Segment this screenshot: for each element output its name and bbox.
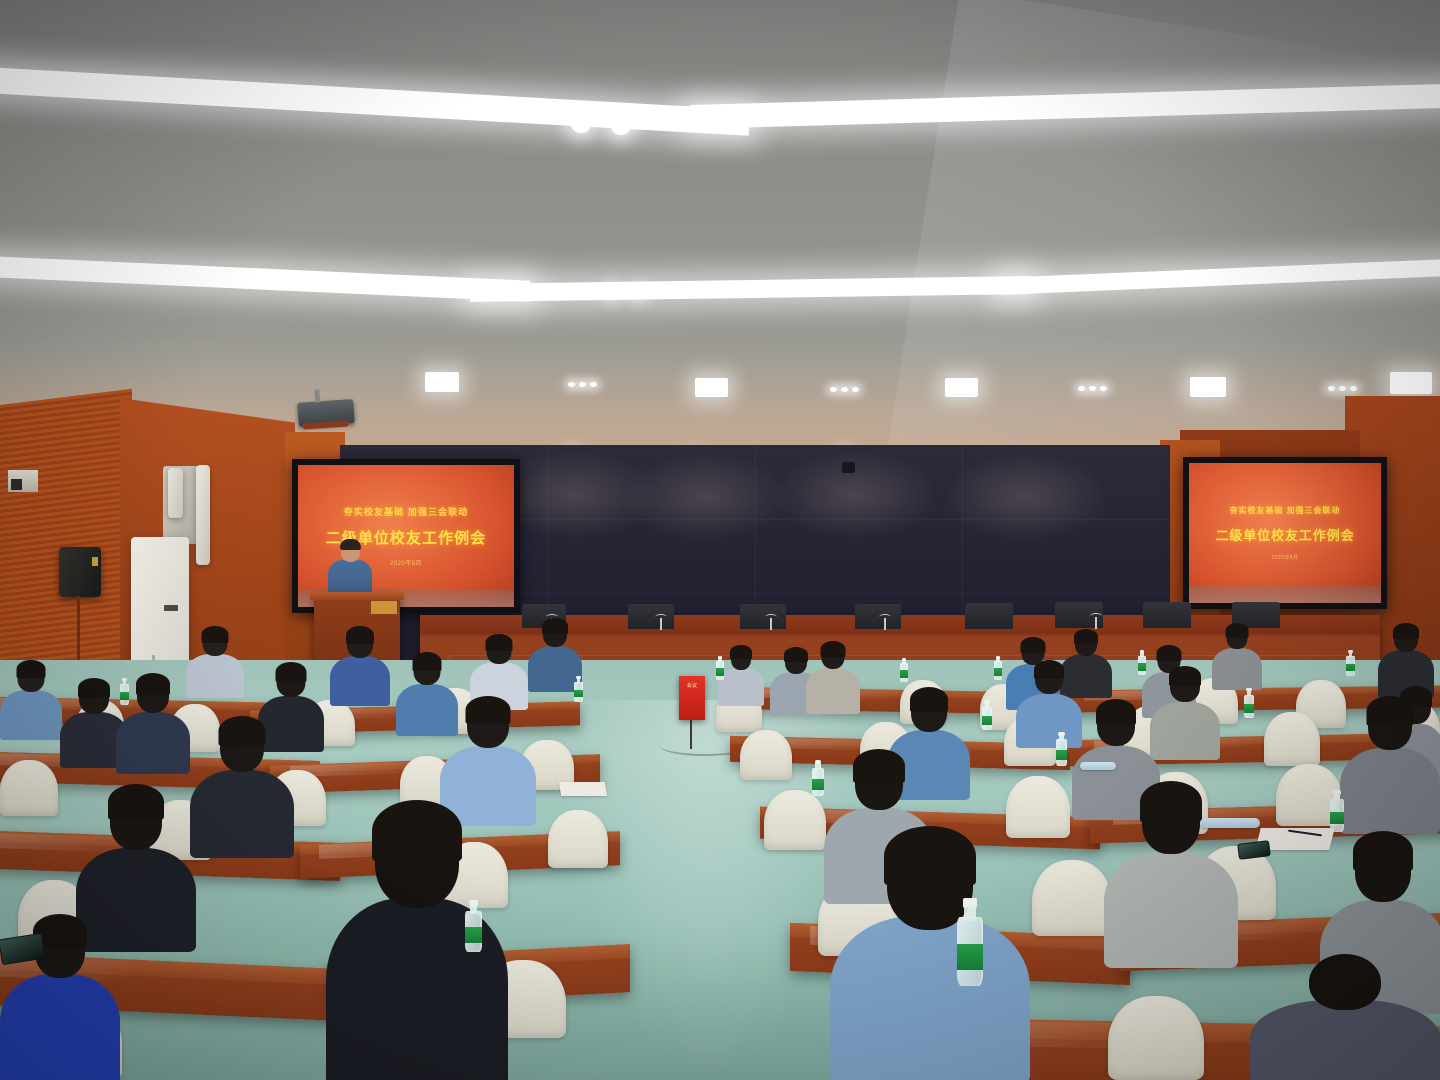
ceiling-panel-light — [695, 378, 728, 397]
water-bottle[interactable] — [812, 760, 824, 796]
audience-person — [1104, 786, 1238, 966]
water-bottle[interactable] — [465, 900, 482, 952]
screen-subtitle: 夯实校友基础 加强三会联动 — [1230, 505, 1341, 516]
audience-person — [718, 646, 764, 704]
wall-mounted-line-array-speaker — [168, 468, 183, 518]
ceiling-spot-glare — [605, 287, 618, 297]
water-bottle[interactable] — [1244, 688, 1254, 718]
table-microphone — [884, 618, 886, 630]
ceiling-spot-glare — [571, 116, 591, 133]
ceiling-panel-light — [425, 372, 459, 392]
ceiling-panel-light — [945, 378, 978, 397]
water-bottle[interactable] — [716, 656, 724, 680]
stage-monitor-speaker — [59, 547, 101, 597]
presenter-person — [328, 541, 372, 597]
ceiling-spotlight-cluster — [1078, 386, 1107, 391]
audience-chair — [1108, 996, 1204, 1080]
audience-chair — [1032, 860, 1112, 936]
wall-control-plate[interactable] — [8, 470, 38, 492]
face-mask[interactable] — [1080, 762, 1116, 770]
water-bottle[interactable] — [900, 658, 908, 682]
audience-chair — [0, 760, 58, 816]
water-bottle[interactable] — [1346, 650, 1355, 676]
screen-date: 2020年8月 — [1272, 554, 1299, 561]
audience-person — [1378, 624, 1434, 696]
presenter-hair — [340, 539, 361, 550]
table-microphone — [1095, 617, 1097, 629]
water-bottle[interactable] — [574, 676, 583, 702]
head-table-chair — [1143, 602, 1191, 628]
red-standing-banner: 会议 — [679, 676, 705, 720]
table-microphone — [770, 618, 772, 630]
head-table-chair — [965, 603, 1013, 629]
ceiling-spot-glare — [632, 288, 645, 298]
banner-stand-leg — [690, 719, 692, 749]
audience-chair — [764, 790, 826, 850]
ceiling-spotlight-cluster — [830, 387, 859, 392]
ceiling-panel-light — [1390, 372, 1432, 394]
conference-room-photo: 夯实校友基础 加强三会联动 二级单位校友工作例会 2020年8月 夯实校友基础 … — [0, 0, 1440, 1080]
water-bottle[interactable] — [994, 656, 1002, 680]
water-bottle[interactable] — [982, 700, 992, 730]
screen-title: 二级单位校友工作例会 — [1215, 525, 1354, 544]
wall-mounted-line-array-speaker — [196, 465, 210, 565]
audience-person — [186, 626, 244, 696]
right-projection-screen: 夯实校友基础 加强三会联动 二级单位校友工作例会 2020年8月 — [1183, 457, 1387, 609]
banner-text: 会议 — [679, 683, 705, 690]
head-table-chair — [740, 604, 786, 629]
notepad[interactable] — [559, 782, 607, 796]
face-mask[interactable] — [1200, 818, 1260, 828]
table-microphone — [660, 618, 662, 630]
water-bottle[interactable] — [1056, 732, 1067, 766]
podium-nameplate — [371, 601, 397, 614]
screen-subtitle: 夯实校友基础 加强三会联动 — [344, 505, 469, 518]
ceiling-spot-glare — [611, 118, 631, 135]
water-bottle[interactable] — [1138, 650, 1146, 675]
audience-person — [1150, 668, 1220, 758]
audience-chair — [548, 810, 608, 868]
audience-person — [830, 832, 1030, 1080]
right-screen-surface: 夯实校友基础 加强三会联动 二级单位校友工作例会 2020年8月 — [1189, 463, 1381, 603]
backdrop-light-wash — [940, 452, 1110, 542]
audience-chair — [1006, 776, 1070, 838]
audience-person — [1250, 954, 1440, 1080]
head-table-chair — [855, 604, 901, 629]
audience-person — [1340, 700, 1440, 832]
audience-person — [190, 720, 294, 856]
audience-chair — [740, 730, 792, 780]
water-bottle[interactable] — [957, 898, 983, 986]
backdrop-light-wash — [620, 452, 790, 542]
audience-person — [806, 642, 860, 712]
ceiling-projector — [297, 399, 355, 427]
audience-chair — [1264, 712, 1320, 766]
audience-person — [330, 628, 390, 704]
water-bottle[interactable] — [120, 678, 129, 705]
ceiling-spotlight-cluster — [1328, 386, 1357, 391]
left-projection-screen: 夯实校友基础 加强三会联动 二级单位校友工作例会 2020年8月 — [292, 459, 520, 613]
ceiling-panel-light — [1190, 377, 1226, 397]
backdrop-light-wash — [770, 450, 940, 540]
head-table-chair — [628, 604, 674, 629]
water-bottle[interactable] — [1330, 790, 1344, 832]
audience-person — [0, 660, 62, 738]
ceiling-camera-icon — [842, 462, 855, 473]
screen-bottom-bar — [1189, 586, 1381, 603]
speaker-stand — [77, 596, 80, 668]
screen-date: 2020年8月 — [390, 558, 422, 567]
ceiling-spotlight-cluster — [568, 382, 597, 387]
